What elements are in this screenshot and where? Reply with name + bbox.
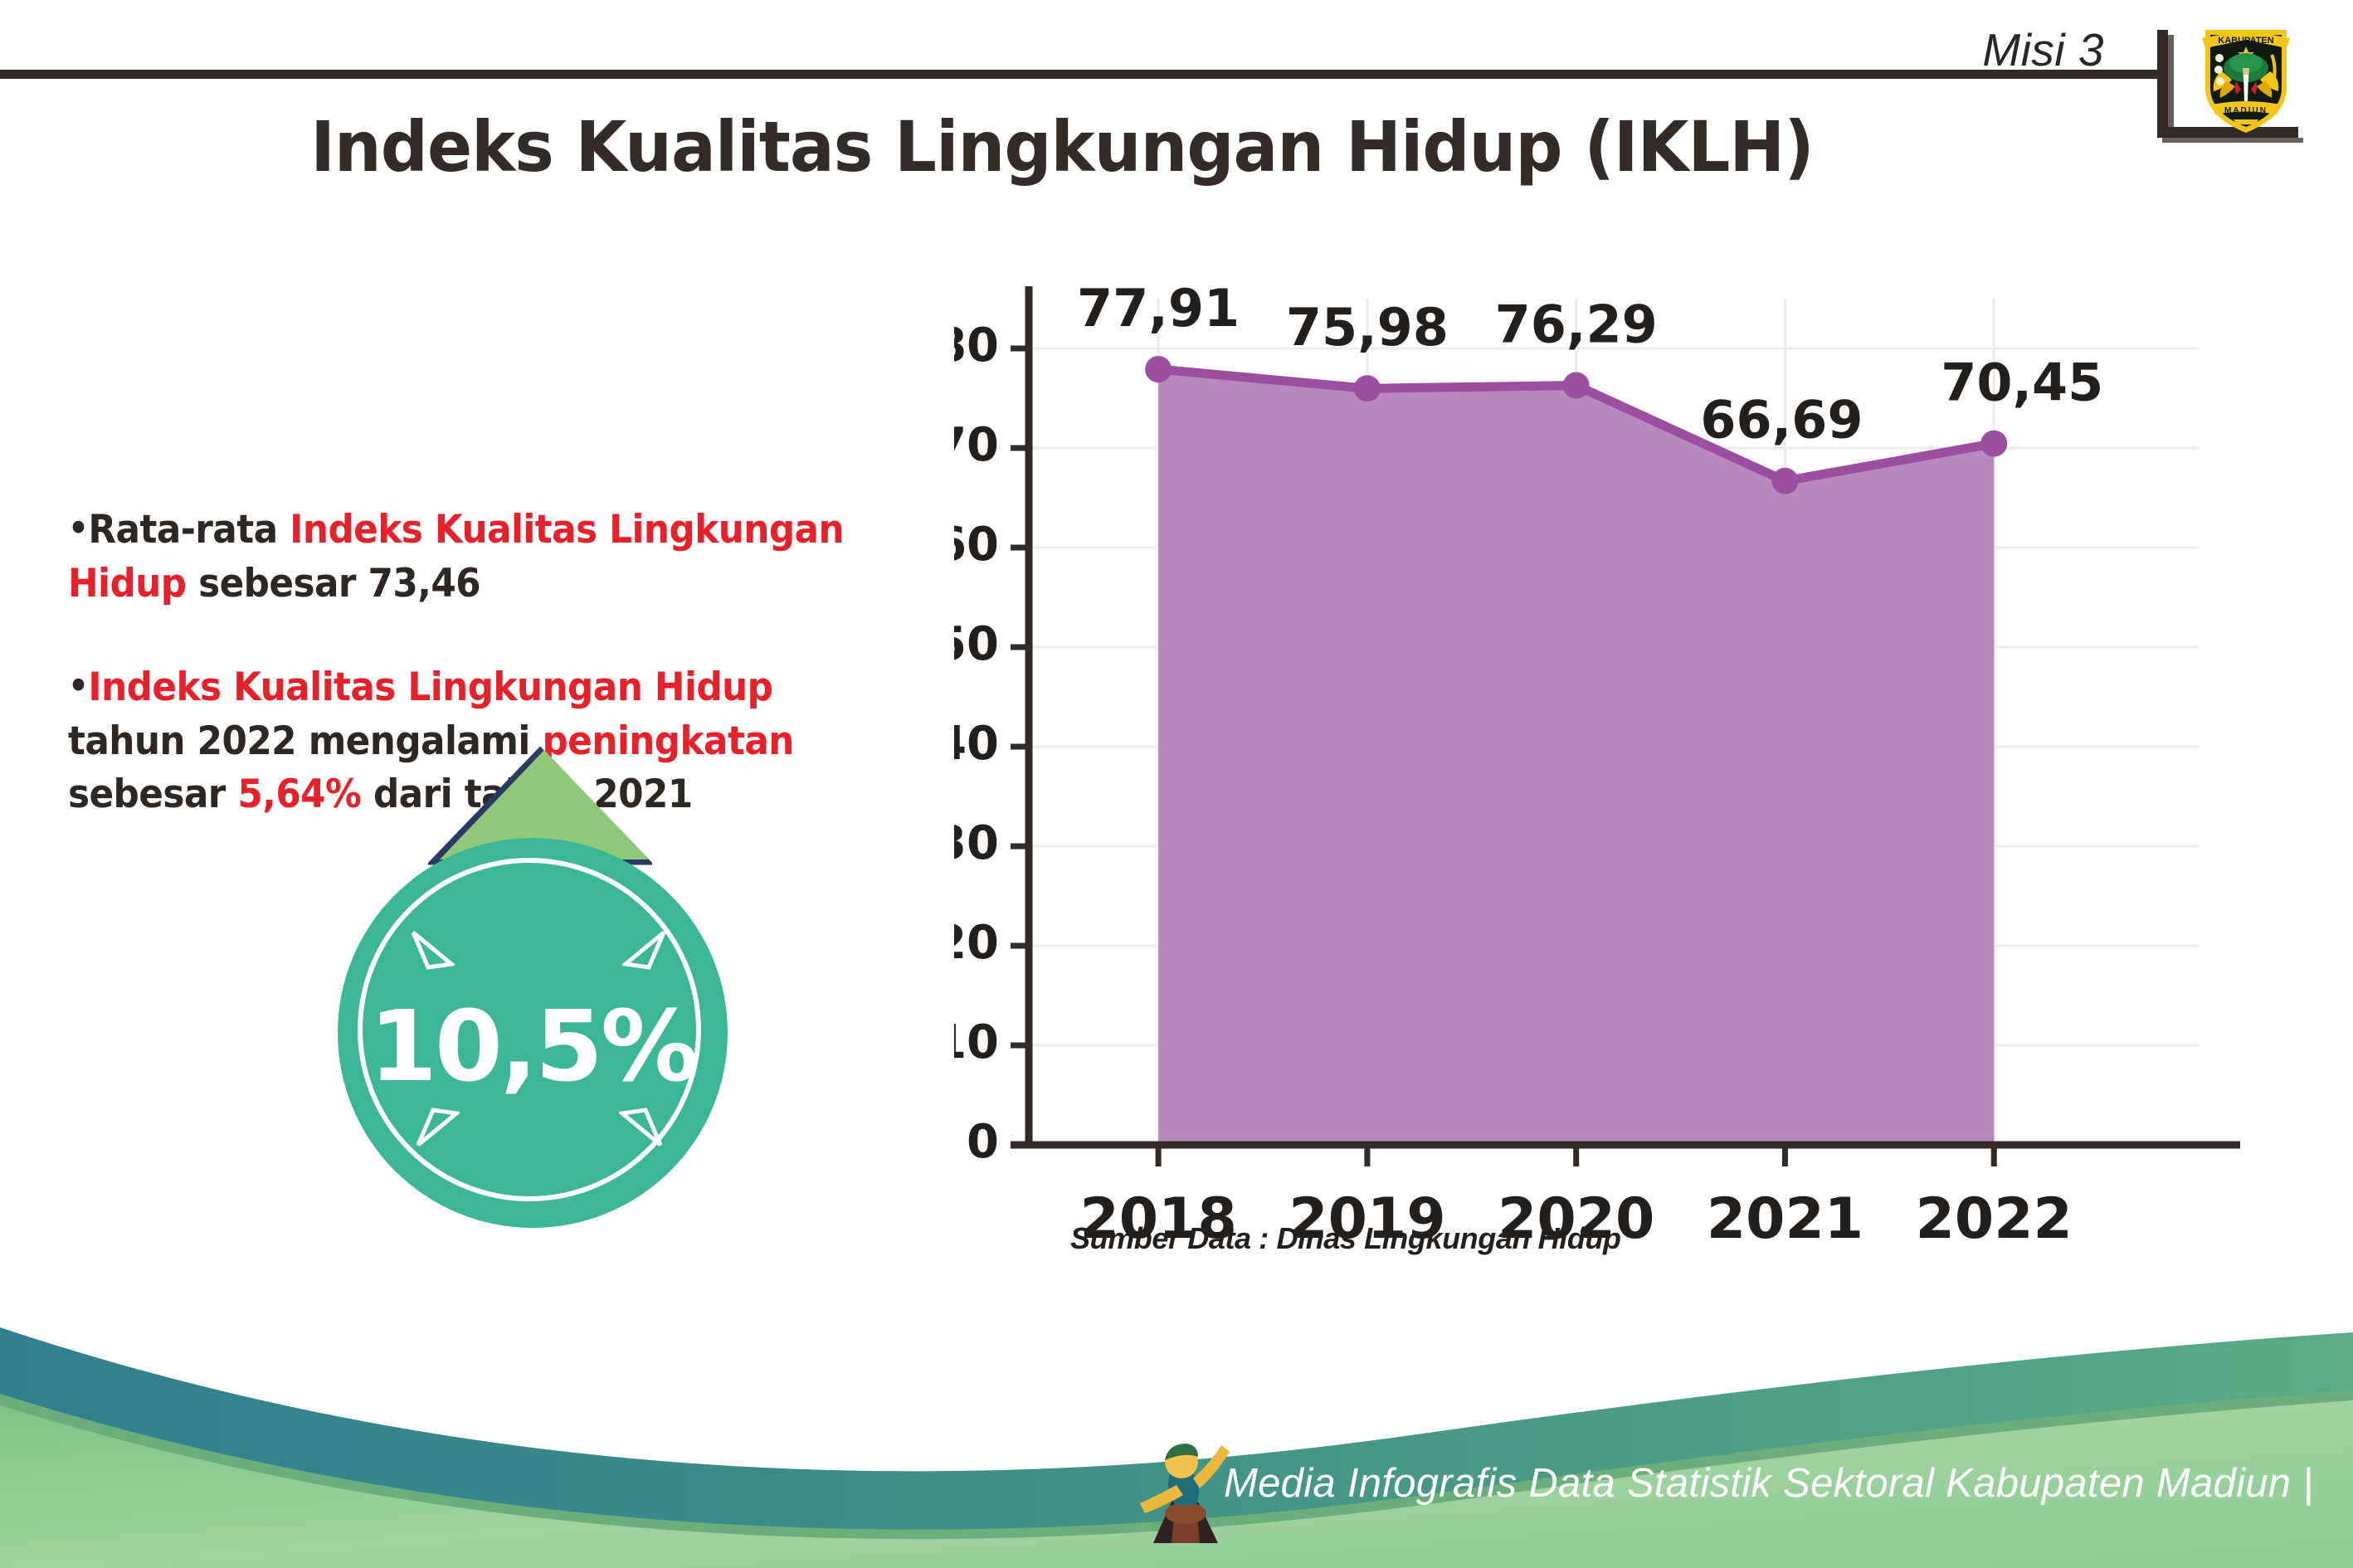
- chart-y-tick-label: 80: [954, 319, 999, 373]
- chart-x-tick-label-2022: 2022: [1916, 1186, 2073, 1252]
- highlight-item-average: •Rata-rata Indeks Kualitas Lingkungan Hi…: [68, 504, 894, 611]
- header-divider-rule: [0, 70, 2167, 79]
- chart-value-label-2022: 70,45: [1941, 353, 2103, 413]
- chart-y-tick-label: 40: [954, 717, 999, 771]
- badge-arrow-tick-top-right-icon: [622, 928, 667, 972]
- chart-data-point-2021: [1771, 468, 1798, 494]
- bracket-vertical-shadow: [2168, 35, 2174, 138]
- highlight-avg-seg-2: sebesar 73,46: [186, 561, 480, 606]
- bullet-dot-icon: •: [68, 508, 88, 548]
- bracket-vertical-bar: [2157, 30, 2168, 138]
- highlight-chg-seg-0: Indeks Kualitas Lingkungan Hidup: [88, 665, 772, 710]
- mission-label: Misi 3: [1982, 23, 2104, 76]
- chart-value-label-2020: 76,29: [1495, 295, 1658, 355]
- footer-caption: Media Infografis Data Statistik Sektoral…: [1224, 1460, 2313, 1507]
- chart-x-tick-label-2021: 2021: [1707, 1186, 1863, 1252]
- chart-y-tick-label: 0: [967, 1115, 999, 1169]
- highlight-chg-seg-3: sebesar: [68, 772, 237, 817]
- badge-value-label: 10,5%: [322, 989, 743, 1103]
- chart-y-tick-label: 10: [954, 1015, 999, 1069]
- chart-y-tick-label: 30: [954, 816, 999, 870]
- chart-value-label-2021: 66,69: [1700, 390, 1863, 450]
- chart-x-axis: [1011, 1145, 2240, 1166]
- svg-text:MADIUN: MADIUN: [2224, 106, 2268, 115]
- svg-text:KABUPATEN: KABUPATEN: [2218, 36, 2273, 46]
- chart-data-point-2022: [1980, 431, 2007, 457]
- chart-source-note: Sumber Data : Dinas Lingkungan Hidup: [1070, 1221, 1621, 1256]
- bracket-horizontal-shadow: [2162, 138, 2303, 143]
- increase-badge: 10,5%: [322, 747, 753, 1244]
- chart-data-point-2019: [1354, 375, 1381, 402]
- bullet-dot-icon: •: [68, 665, 88, 705]
- kabupaten-madiun-emblem-icon: KABUPATEN MADIUN: [2197, 18, 2295, 136]
- chart-y-tick-label: 50: [954, 617, 999, 671]
- chart-value-label-2018: 77,91: [1077, 278, 1240, 338]
- badge-arrow-tick-top-left-icon: [410, 928, 455, 972]
- badge-arrow-tick-bottom-right-icon: [619, 1105, 664, 1150]
- badge-arrow-tick-bottom-left-icon: [415, 1105, 460, 1150]
- chart-y-axis: 01020304050607080: [954, 286, 1029, 1169]
- chart-value-label-2019: 75,98: [1286, 297, 1449, 358]
- iklh-area-chart: 01020304050607080 77,9175,9876,2966,6970…: [954, 274, 2248, 1269]
- page-title: Indeks Kualitas Lingkungan Hidup (IKLH): [53, 106, 2071, 187]
- chart-data-point-2020: [1563, 373, 1590, 399]
- chart-y-tick-label: 70: [954, 418, 999, 472]
- chart-area-fill: [1158, 369, 1994, 1145]
- chart-data-point-2018: [1145, 356, 1172, 382]
- chart-canvas: 01020304050607080 77,9175,9876,2966,6970…: [954, 274, 2248, 1269]
- chart-y-tick-label: 60: [954, 518, 999, 572]
- media-infografis-dancer-logo-icon: [1138, 1434, 1231, 1546]
- chart-y-tick-label: 20: [954, 916, 999, 970]
- highlight-avg-seg-0: Rata-rata: [88, 507, 290, 553]
